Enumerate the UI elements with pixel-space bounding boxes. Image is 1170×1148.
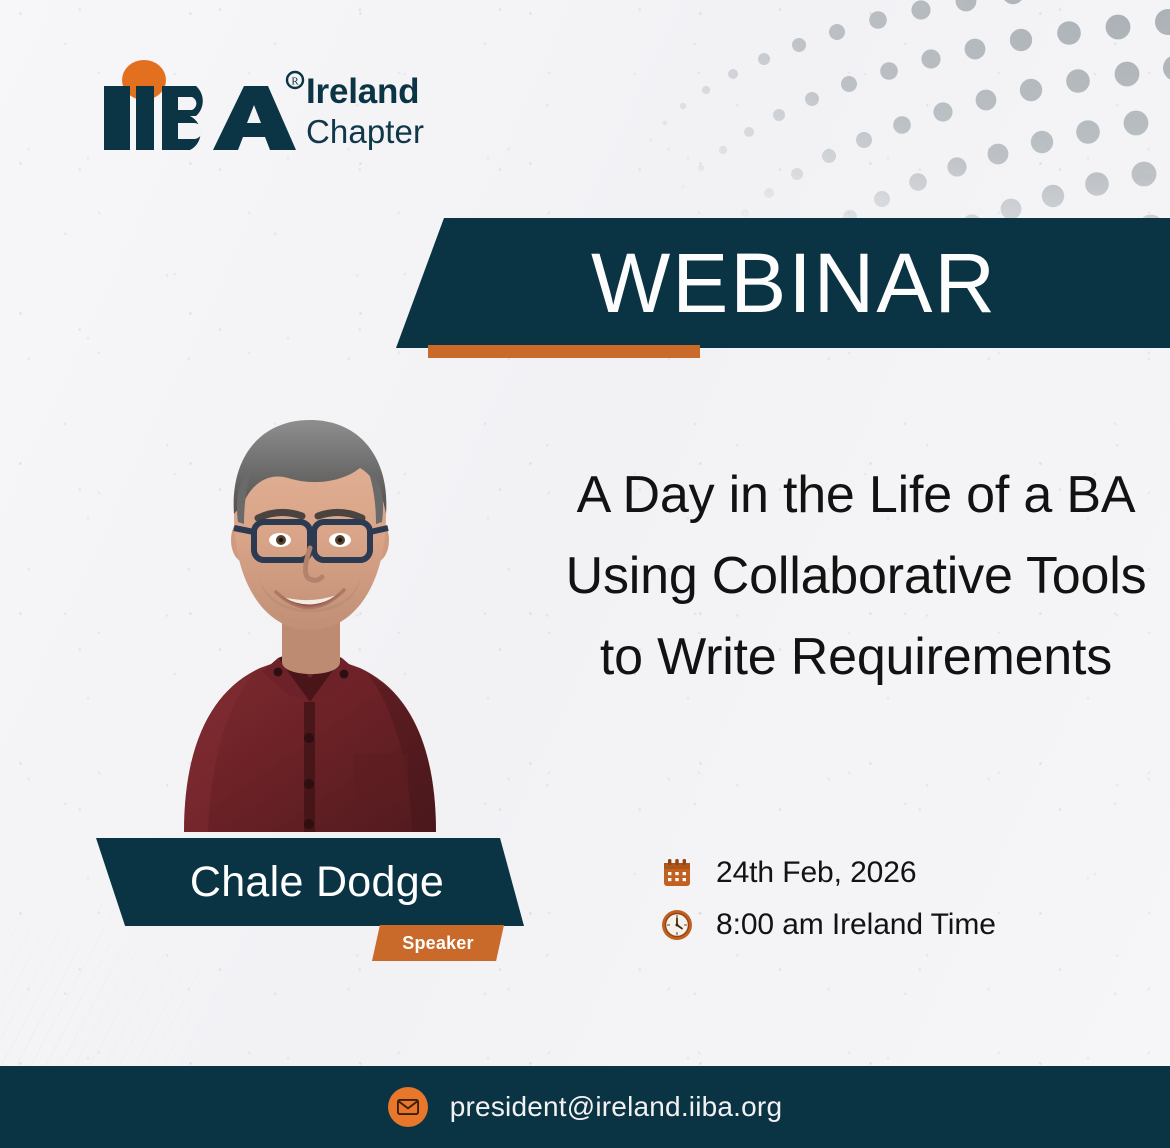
chapter-name-chapter: Chapter: [306, 115, 424, 148]
clock-icon: [660, 908, 694, 942]
envelope-icon: [388, 1087, 428, 1127]
event-details: 24th Feb, 2026 8:00 am Ireland Time: [660, 856, 996, 960]
speaker-role-tag-label: Speaker: [372, 925, 504, 961]
contact-email[interactable]: president@ireland.iiba.org: [450, 1091, 782, 1123]
speaker-name: Chale Dodge: [96, 838, 524, 926]
iiba-logo-icon: R: [96, 58, 306, 158]
event-date-row: 24th Feb, 2026: [660, 856, 996, 890]
event-date-value: 24th Feb, 2026: [716, 856, 916, 890]
webinar-accent-bar: [428, 345, 700, 358]
event-time-row: 8:00 am Ireland Time: [660, 908, 996, 942]
svg-text:R: R: [291, 76, 299, 88]
webinar-title: A Day in the Life of a BA Using Collabor…: [556, 455, 1156, 698]
event-time-value: 8:00 am Ireland Time: [716, 908, 996, 942]
footer-bar: president@ireland.iiba.org: [0, 1066, 1170, 1148]
chapter-wordmark: Ireland Chapter: [306, 74, 424, 148]
webinar-poster: R Ireland Chapter WEBINAR: [0, 0, 1170, 1148]
chapter-name-ireland: Ireland: [306, 74, 424, 109]
speaker-portrait: [92, 372, 500, 832]
calendar-icon: [660, 856, 694, 890]
webinar-banner-label: WEBINAR: [396, 218, 1170, 348]
